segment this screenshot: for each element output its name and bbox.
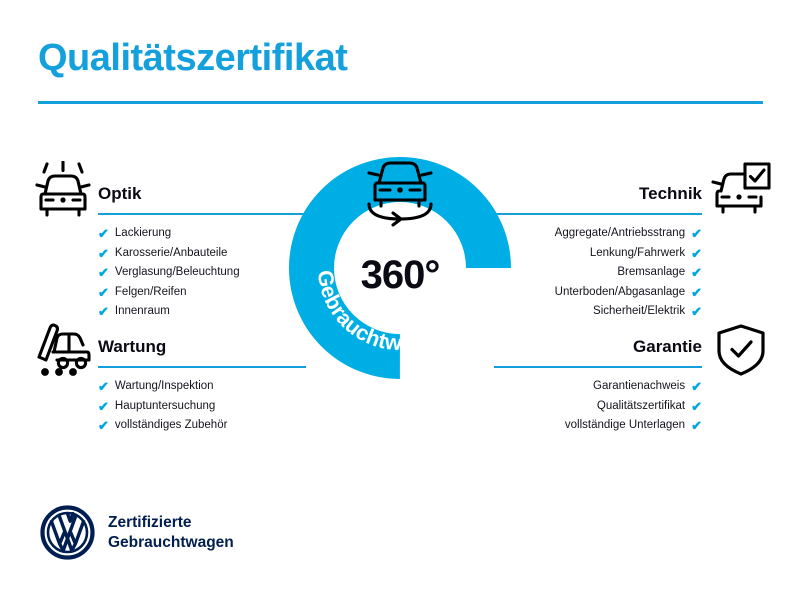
check-icon: ✔ [98, 419, 109, 432]
section-technik: Technik Aggregate/Antriebsstrang✔ Lenkun… [494, 183, 702, 322]
volkswagen-lockup: Zertifizierte Gebrauchtwagen [40, 505, 234, 560]
section-header-wartung: Wartung [98, 336, 306, 370]
lockup-line-1: Zertifizierte [108, 513, 234, 533]
list-item-label: Felgen/Reifen [115, 283, 187, 303]
list-item-label: vollständiges Zubehör [115, 416, 228, 436]
page-title: Qualitätszertifikat [38, 38, 347, 80]
section-header-garantie: Garantie [494, 336, 702, 370]
section-wartung: Wartung ✔Wartung/Inspektion ✔Hauptunters… [98, 336, 306, 436]
list-item-label: Lackierung [115, 224, 171, 244]
list-item-label: vollständige Unterlagen [565, 416, 685, 436]
list-item-label: Sicherheit/Elektrik [593, 302, 685, 322]
badge-360-gebrauchtwagen-check: Gebrauchtwagen-Check [287, 155, 513, 381]
list-item-label: Hauptuntersuchung [115, 397, 215, 417]
check-icon: ✔ [691, 380, 702, 393]
section-optik: Optik ✔Lackierung ✔Karosserie/Anbauteile… [98, 183, 306, 322]
volkswagen-logo [40, 505, 95, 560]
section-title: Technik [494, 183, 702, 205]
check-icon: ✔ [98, 286, 109, 299]
list-item-label: Innenraum [115, 302, 170, 322]
section-divider [98, 366, 306, 369]
list-item: ✔Verglasung/Beleuchtung [98, 263, 306, 283]
checklist-wartung: ✔Wartung/Inspektion ✔Hauptuntersuchung ✔… [98, 377, 306, 436]
car-front-checkbox-icon [711, 161, 771, 219]
list-item: ✔Wartung/Inspektion [98, 377, 306, 397]
lockup-line-2: Gebrauchtwagen [108, 533, 234, 553]
check-icon: ✔ [691, 286, 702, 299]
section-title: Optik [98, 183, 306, 205]
list-item-label: Wartung/Inspektion [115, 377, 214, 397]
list-item: ✔vollständiges Zubehör [98, 416, 306, 436]
list-item-label: Unterboden/Abgasanlage [555, 283, 685, 303]
check-icon: ✔ [691, 247, 702, 260]
check-icon: ✔ [691, 266, 702, 279]
list-item: ✔Karosserie/Anbauteile [98, 244, 306, 264]
list-item-label: Verglasung/Beleuchtung [115, 263, 240, 283]
list-item-label: Qualitätszertifikat [597, 397, 685, 417]
check-icon: ✔ [98, 400, 109, 413]
check-icon: ✔ [691, 400, 702, 413]
check-icon: ✔ [98, 380, 109, 393]
section-divider [494, 366, 702, 369]
section-header-optik: Optik [98, 183, 306, 217]
section-divider [98, 213, 306, 216]
list-item-label: Aggregate/Antriebsstrang [555, 224, 685, 244]
list-item: ✔Felgen/Reifen [98, 283, 306, 303]
volkswagen-lockup-text: Zertifizierte Gebrauchtwagen [108, 513, 234, 553]
list-item-label: Lenkung/Fahrwerk [590, 244, 685, 264]
section-title: Wartung [98, 336, 306, 358]
check-icon: ✔ [691, 227, 702, 240]
check-icon: ✔ [98, 305, 109, 318]
check-icon: ✔ [98, 227, 109, 240]
list-item-label: Garantienachweis [593, 377, 685, 397]
list-item: Unterboden/Abgasanlage✔ [494, 283, 702, 303]
check-icon: ✔ [98, 266, 109, 279]
section-title: Garantie [494, 336, 702, 358]
check-icon: ✔ [691, 419, 702, 432]
section-divider [494, 213, 702, 216]
list-item: vollständige Unterlagen✔ [494, 416, 702, 436]
list-item-label: Bremsanlage [617, 263, 685, 283]
list-item: Garantienachweis✔ [494, 377, 702, 397]
list-item-label: Karosserie/Anbauteile [115, 244, 228, 264]
check-icon: ✔ [691, 305, 702, 318]
checklist-garantie: Garantienachweis✔ Qualitätszertifikat✔ v… [494, 377, 702, 436]
section-garantie: Garantie Garantienachweis✔ Qualitätszert… [494, 336, 702, 436]
list-item: ✔Innenraum [98, 302, 306, 322]
certificate-page: Qualitätszertifikat [0, 0, 800, 600]
checklist-technik: Aggregate/Antriebsstrang✔ Lenkung/Fahrwe… [494, 224, 702, 322]
badge-value: 360° [287, 253, 513, 298]
title-divider [38, 101, 763, 104]
list-item: Qualitätszertifikat✔ [494, 397, 702, 417]
list-item: Lenkung/Fahrwerk✔ [494, 244, 702, 264]
list-item: Bremsanlage✔ [494, 263, 702, 283]
list-item: Aggregate/Antriebsstrang✔ [494, 224, 702, 244]
car-service-wrench-icon [33, 320, 93, 378]
list-item: ✔Lackierung [98, 224, 306, 244]
car-front-shine-icon [33, 161, 93, 219]
checklist-optik: ✔Lackierung ✔Karosserie/Anbauteile ✔Verg… [98, 224, 306, 322]
list-item: ✔Hauptuntersuchung [98, 397, 306, 417]
car-rotation-360-icon [357, 157, 443, 227]
check-icon: ✔ [98, 247, 109, 260]
list-item: Sicherheit/Elektrik✔ [494, 302, 702, 322]
shield-check-icon [713, 322, 773, 380]
section-header-technik: Technik [494, 183, 702, 217]
